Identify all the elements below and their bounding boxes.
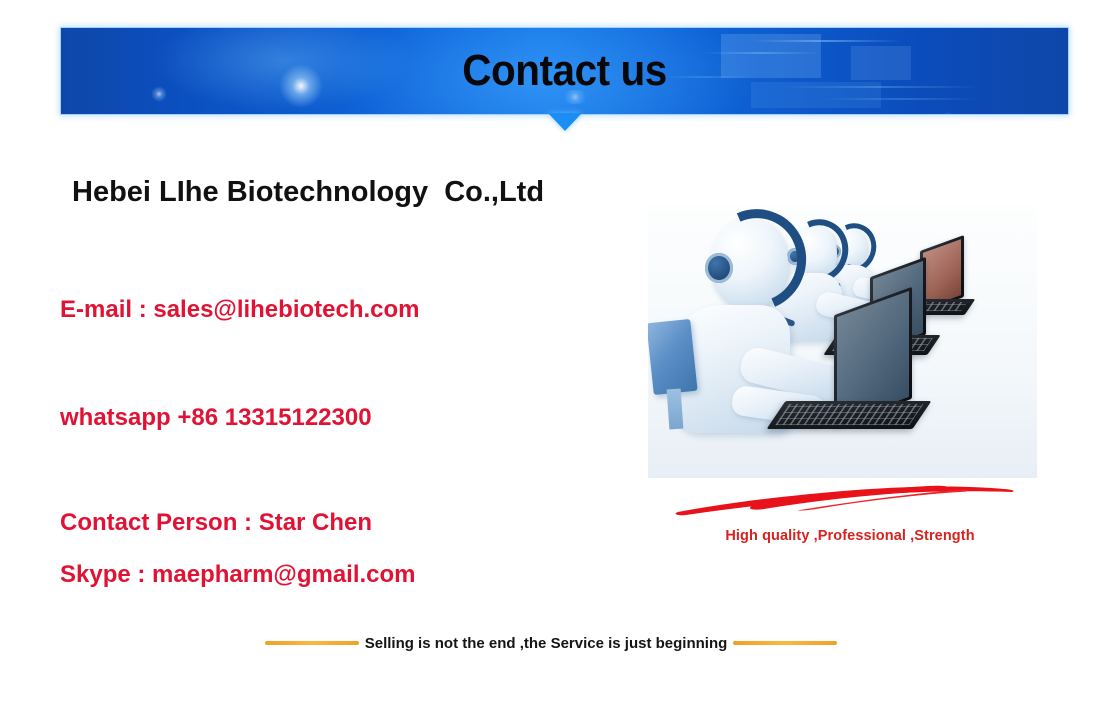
banner-background: Contact us [61, 28, 1068, 114]
footer-rule-left [265, 641, 359, 645]
call-center-photo [648, 205, 1037, 478]
banner-arrow-down-icon [548, 113, 582, 131]
banner-light-streak [821, 98, 981, 100]
company-name: Hebei LIhe Biotechnology Co.,Ltd [72, 176, 544, 209]
quality-tagline: High quality ,Professional ,Strength [640, 528, 1060, 544]
footer-tagline-text: Selling is not the end ,the Service is j… [365, 635, 728, 652]
footer-tagline-row: Selling is not the end ,the Service is j… [0, 632, 1102, 654]
red-brush-swoosh-icon [660, 480, 1040, 516]
footer-rule-right [733, 641, 837, 645]
contact-skype[interactable]: Skype : maepharm@gmail.com [60, 561, 416, 589]
contact-email[interactable]: E-mail : sales@lihebiotech.com [60, 296, 420, 324]
contact-whatsapp[interactable]: whatsapp +86 13315122300 [60, 404, 372, 432]
contact-person: Contact Person : Star Chen [60, 509, 372, 537]
banner-light-streak [751, 40, 901, 42]
banner-sparkle-icon [941, 112, 955, 114]
contact-banner: Contact us [61, 28, 1068, 114]
page-title: Contact us [101, 45, 1027, 97]
